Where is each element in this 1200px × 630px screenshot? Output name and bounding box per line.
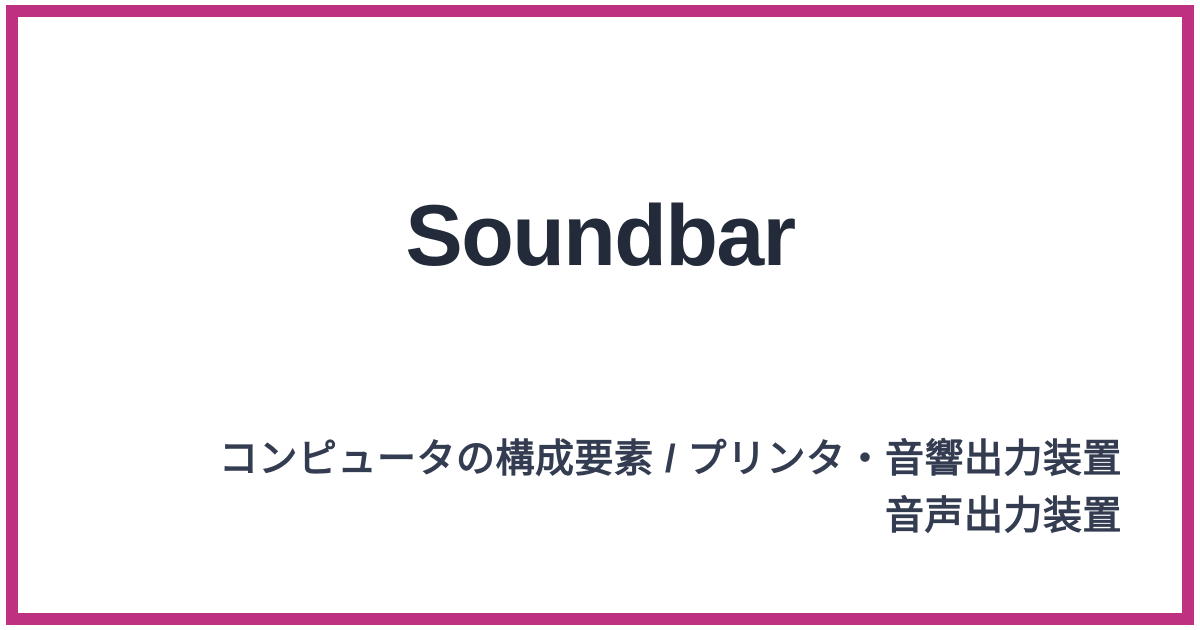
breadcrumb: コンピュータの構成要素 / プリンタ・音響出力装置 音声出力装置: [78, 431, 1122, 545]
title-row: Soundbar: [78, 133, 1122, 339]
page-title: Soundbar: [405, 191, 794, 281]
breadcrumb-line-1: コンピュータの構成要素 / プリンタ・音響出力装置: [78, 431, 1122, 488]
card-content: Soundbar コンピュータの構成要素 / プリンタ・音響出力装置 音声出力装…: [0, 0, 1200, 630]
og-card: Soundbar コンピュータの構成要素 / プリンタ・音響出力装置 音声出力装…: [0, 0, 1200, 630]
breadcrumb-line-2: 音声出力装置: [78, 488, 1122, 545]
